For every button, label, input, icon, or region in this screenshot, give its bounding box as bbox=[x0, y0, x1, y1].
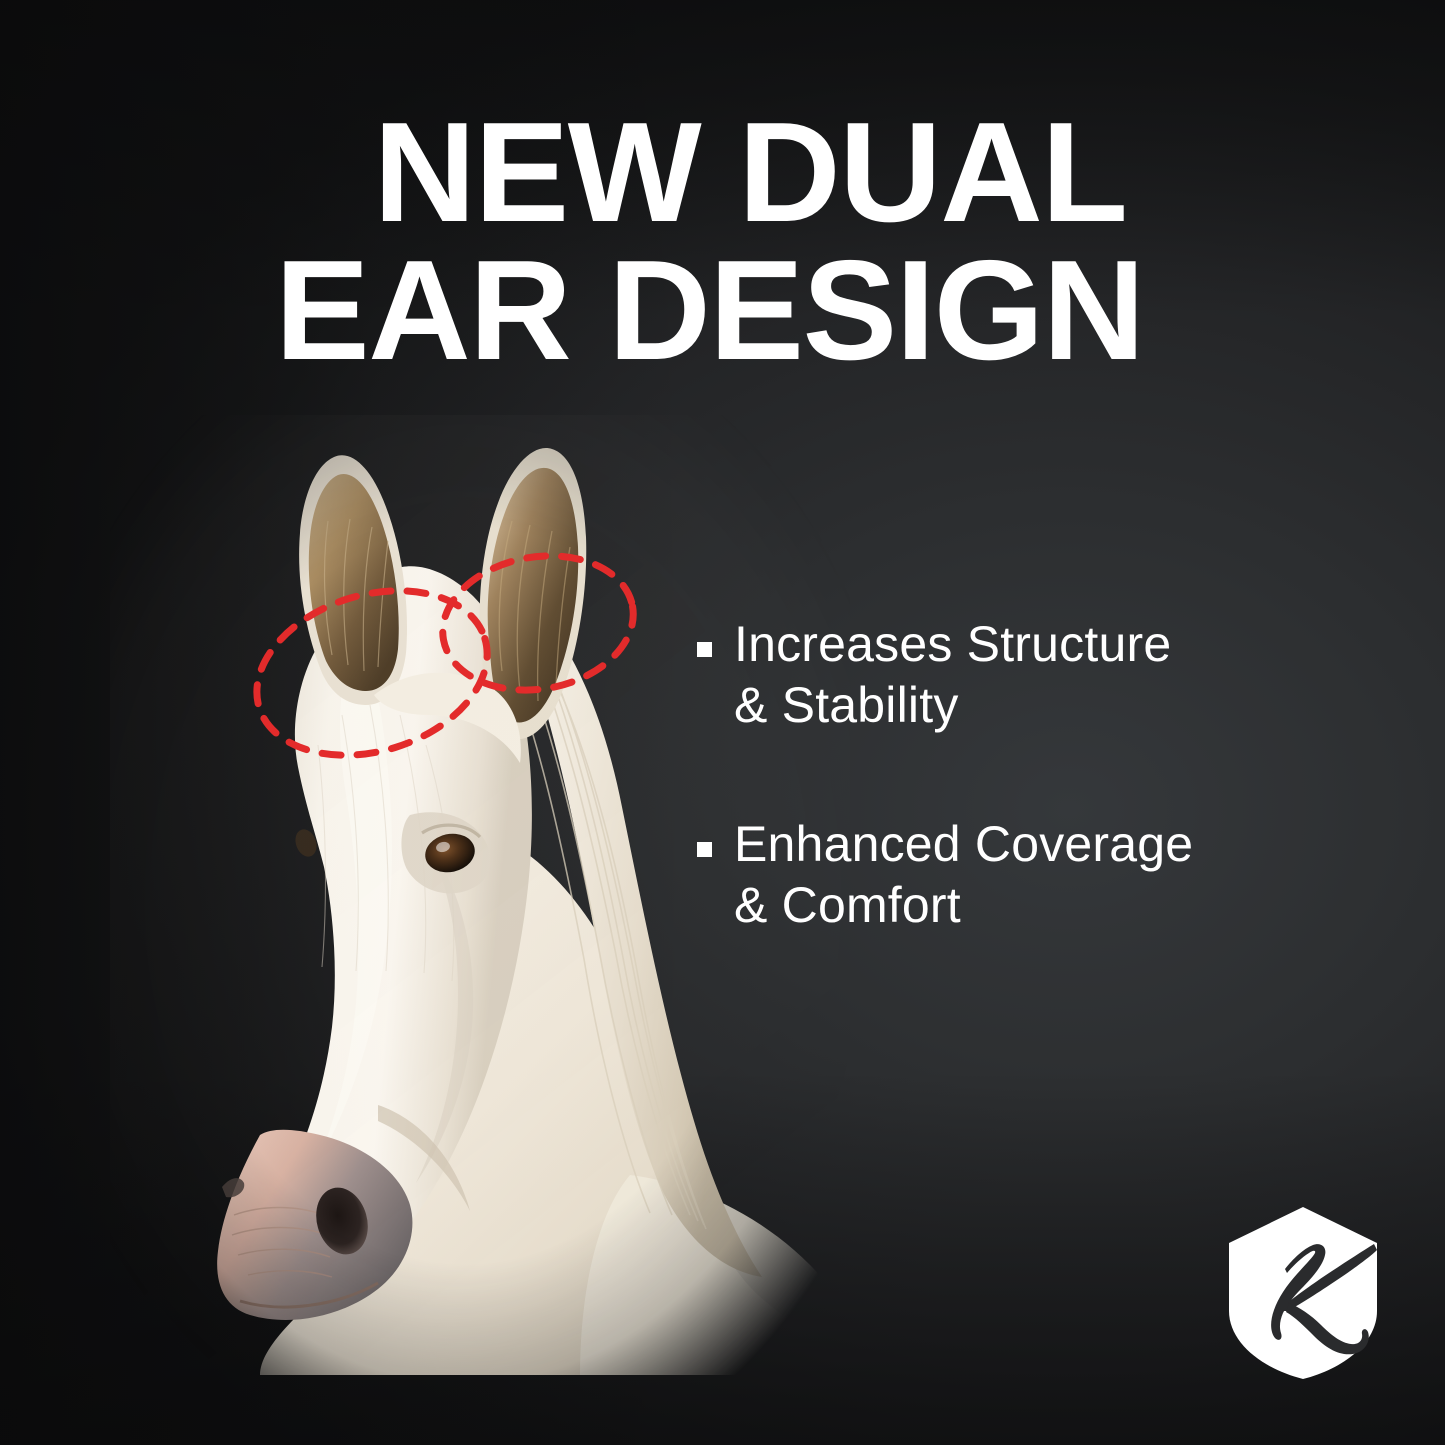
square-bullet-icon bbox=[697, 842, 712, 857]
list-item: Enhanced Coverage & Comfort bbox=[697, 814, 1377, 936]
list-item-label: Enhanced Coverage & Comfort bbox=[734, 814, 1193, 936]
list-item: Increases Structure & Stability bbox=[697, 614, 1377, 736]
feature-list: Increases Structure & Stability Enhanced… bbox=[697, 614, 1377, 936]
list-item-label: Increases Structure & Stability bbox=[734, 614, 1171, 736]
brand-logo bbox=[1223, 1203, 1383, 1383]
page-title: NEW DUAL EAR DESIGN bbox=[295, 104, 1205, 379]
headline-line-2: EAR DESIGN bbox=[275, 242, 1205, 380]
headline-line-1: NEW DUAL bbox=[295, 104, 1205, 242]
promo-graphic: NEW DUAL EAR DESIGN Increases Structure … bbox=[0, 0, 1445, 1445]
square-bullet-icon bbox=[697, 642, 712, 657]
